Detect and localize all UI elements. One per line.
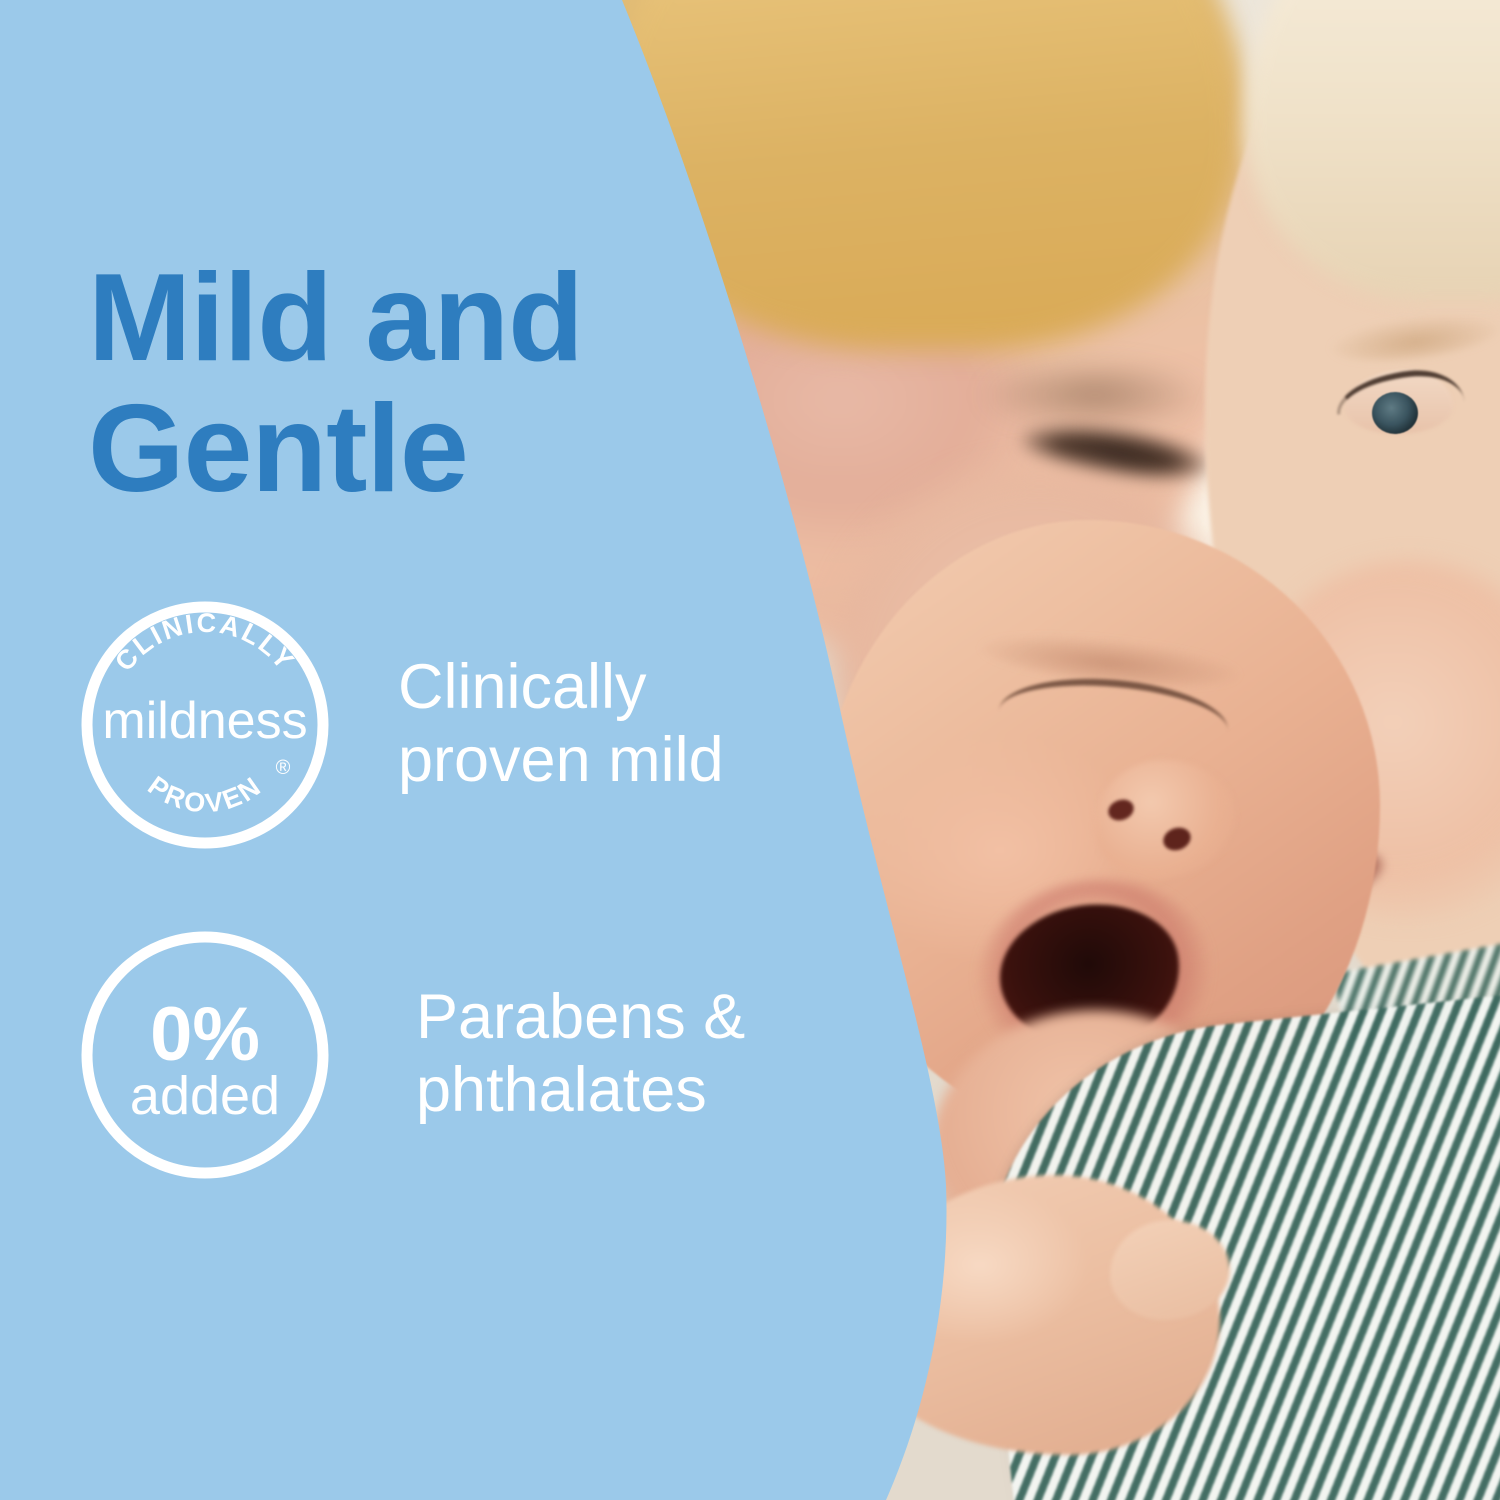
seal-arc-top: CLINICALLY: [109, 608, 301, 677]
product-banner: Mild and Gentle CLINICALLY PROVEN mi: [0, 0, 1500, 1500]
panel-content: Mild and Gentle CLINICALLY PROVEN mi: [0, 0, 1500, 1500]
ring-secondary-label: added: [130, 1066, 280, 1126]
feature-label-parabens-phthalates: Parabens & phthalates: [416, 981, 745, 1127]
feature-zero-added: 0% added Parabens & phthalates: [78, 928, 745, 1182]
svg-text:PROVEN: PROVEN: [143, 770, 268, 819]
page-title: Mild and Gentle: [88, 253, 708, 516]
feature-label-clinically-proven-mild: Clinically proven mild: [398, 651, 724, 797]
seal-registered-mark: ®: [276, 757, 291, 779]
feature-clinically-proven: CLINICALLY PROVEN mildness ® Clinically …: [78, 598, 724, 852]
seal-center-label: mildness: [102, 692, 307, 750]
svg-text:CLINICALLY: CLINICALLY: [109, 608, 301, 677]
clinically-proven-mildness-seal-icon: CLINICALLY PROVEN mildness ®: [78, 598, 332, 852]
zero-percent-added-ring-icon: 0% added: [78, 928, 332, 1182]
ring-primary-label: 0%: [150, 992, 260, 1077]
seal-arc-bottom: PROVEN: [143, 770, 268, 819]
